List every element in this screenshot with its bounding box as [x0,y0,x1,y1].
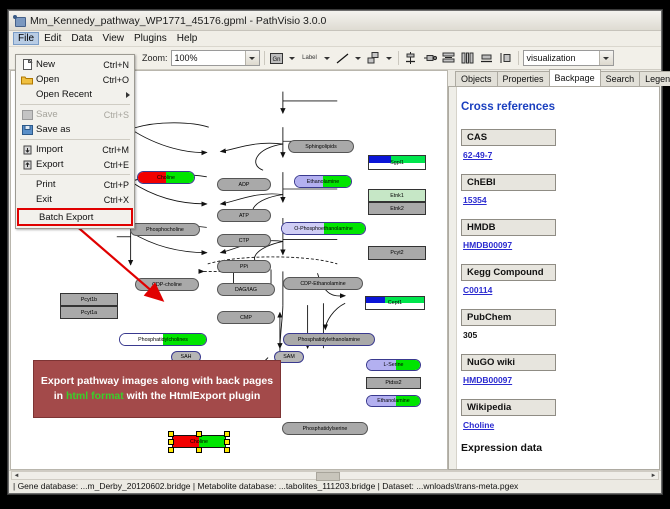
menu-item-open[interactable]: Open Ctrl+O [16,72,134,87]
file-menu-popup[interactable]: New Ctrl+N Open Ctrl+O Open Recent Save … [15,54,135,229]
pathway-node-phosphatidylcholines[interactable]: Phosphatidylcholines [119,333,207,346]
tab-backpage[interactable]: Backpage [549,69,601,86]
pathway-node-ppi[interactable]: PPi [217,260,271,273]
distribute-vertical-icon[interactable] [441,51,457,66]
new-file-icon [18,58,36,71]
xref-value[interactable]: HMDB00097 [463,375,659,385]
pathvisio-window-icon [13,14,26,27]
xref-db-label: ChEBI [461,174,556,191]
open-folder-icon [18,73,36,86]
node-label: Ptdss2 [385,380,401,386]
horizontal-scrollbar[interactable]: ◄ ► [11,471,659,480]
node-label: Choline [190,439,208,445]
node-label: ADP [239,182,250,188]
svg-text:Gn: Gn [273,57,281,63]
line-dropdown-icon[interactable] [354,51,363,65]
tab-legend[interactable]: Legend [639,71,670,86]
menu-data[interactable]: Data [66,32,97,45]
pathway-node-ptdss2[interactable]: Ptdss2 [366,377,421,389]
pathway-node-pcyt1a[interactable]: Pcyt1a [60,306,118,319]
node-label: ATP [239,213,249,219]
menu-item-label: Open Recent [36,89,134,100]
xref-chebi: ChEBI [461,172,659,191]
menu-item-export[interactable]: Export Ctrl+E [16,157,134,172]
scroll-left-arrow-icon[interactable]: ◄ [12,472,21,479]
xref-value[interactable]: Choline [463,420,659,430]
align-center-icon[interactable] [403,51,419,66]
stack-icon[interactable] [479,51,495,66]
visualization-combo[interactable]: visualization [523,50,614,66]
label-tool[interactable]: Label [300,51,320,66]
menu-item-label: Save [36,109,104,120]
menu-item-label: Export [36,159,104,170]
node-label: Phosphatidylcholines [138,337,188,343]
line-icon[interactable] [335,51,351,66]
visualization-value: visualization [527,53,599,63]
tab-search[interactable]: Search [600,71,641,86]
shape-dropdown-icon[interactable] [385,51,394,65]
menu-item-label: Open [36,74,103,85]
xref-db-label: PubChem [461,309,556,326]
xref-value[interactable]: 62-49-7 [463,150,659,160]
node-label: Pcyt1a [81,310,97,316]
node-label: PPi [240,264,248,270]
xref-value[interactable]: C00114 [463,285,659,295]
menu-item-shortcut: Ctrl+X [104,195,134,205]
xref-link[interactable]: Choline [463,420,494,430]
node-label: Etnk1 [390,193,404,199]
node-label: Etnk2 [390,206,404,212]
side-panel-tabs: Objects Properties Backpage Search Legen… [448,70,660,86]
xref-nugo: NuGO wiki [461,352,659,371]
distribute-horizontal-icon[interactable] [460,51,476,66]
expression-data-heading: Expression data [461,442,659,454]
side-panel: Objects Properties Backpage Search Legen… [448,70,660,470]
menu-item-save: Save Ctrl+S [16,107,134,122]
node-label: Ethanolamine [307,179,339,185]
zoom-label: Zoom: [142,53,168,63]
xref-db-label: Kegg Compound [461,264,556,281]
menu-view[interactable]: View [97,32,129,45]
pathway-node-phosphocholine[interactable]: Phosphocholine [130,223,200,236]
xref-hmdb: HMDB [461,217,659,236]
menu-separator [20,104,130,105]
xref-db-label: Wikipedia [461,399,556,416]
import-icon [18,143,36,156]
node-label: CMP [240,315,252,321]
node-label: Sphingolipids [305,144,337,150]
gene-product-dropdown-icon[interactable] [288,51,297,65]
menu-plugins[interactable]: Plugins [129,32,172,45]
node-label: Pcyt2 [390,250,403,256]
menu-item-shortcut: Ctrl+N [103,60,134,70]
pathway-node-phosphatidylserine[interactable]: Phosphatidylserine [282,422,368,435]
node-label: Cept1 [388,300,402,306]
node-label: L-Serine [383,362,403,368]
menu-item-batch-export[interactable]: Batch Export [17,208,133,226]
pathway-node-pcyt1b[interactable]: Pcyt1b [60,293,118,306]
node-label: Sgpl1 [390,160,404,166]
pathway-node-atp[interactable]: ATP [217,209,271,222]
submenu-arrow-icon [126,92,130,98]
xref-link[interactable]: 15354 [463,195,487,205]
menu-item-save-as[interactable]: Save as [16,122,134,137]
xref-wikipedia: Wikipedia [461,397,659,416]
backpage-content[interactable]: Cross references CAS 62-49-7 ChEBI 15354… [448,86,660,470]
menu-item-label: Exit [36,194,104,205]
xref-link[interactable]: HMDB00097 [463,240,512,250]
tab-objects[interactable]: Objects [455,71,498,86]
status-text: | Gene database: ...m_Derby_20120602.bri… [13,481,518,491]
pathway-node-phosphatidylethanolamine[interactable]: Phosphatidylethanolamine [283,333,375,346]
node-label: SAM [283,354,294,360]
node-label: Phosphocholine [146,227,184,233]
title-bar: Mm_Kennedy_pathway_WP1771_45176.gpml - P… [9,11,661,31]
menu-help[interactable]: Help [172,32,203,45]
xref-db-label: HMDB [461,219,556,236]
zoom-combo[interactable]: 100% [171,50,260,66]
pathway-node-etnk2[interactable]: Etnk2 [368,202,426,215]
menu-item-shortcut: Ctrl+S [104,110,134,120]
menu-item-label: Import [36,144,102,155]
xref-link[interactable]: C00114 [463,285,492,295]
callout-text: Export pathway images along with back pa… [40,374,274,404]
cross-references-heading: Cross references [461,101,659,113]
node-label: Ethanolamine [377,398,409,404]
node-label: Phosphatidylethanolamine [298,337,360,343]
save-as-icon [18,123,36,136]
pathway-node-choline-top[interactable]: Choline [137,171,195,184]
scrollbar-thumb[interactable] [316,472,340,481]
gene-product-icon[interactable]: Gn [269,51,285,66]
node-label: Choline [157,175,175,181]
node-label: CDP-choline [152,282,182,288]
menu-item-label: Save as [36,124,129,135]
pathway-node-etnk1[interactable]: Etnk1 [368,189,426,202]
chevron-down-icon[interactable] [599,51,613,65]
xref-value[interactable]: 15354 [463,195,659,205]
export-icon [18,158,36,171]
menu-file[interactable]: File [13,32,39,45]
menu-item-shortcut: Ctrl+O [103,75,134,85]
backpage-scrollbar[interactable] [449,87,457,469]
menu-item-exit[interactable]: Exit Ctrl+X [16,192,134,207]
xref-cas: CAS [461,127,659,146]
node-label: Pcyt1b [81,297,97,303]
menu-separator [20,174,130,175]
pathway-node-cept1[interactable]: Cept1 [365,296,425,310]
menu-item-shortcut: Ctrl+P [104,180,134,190]
pathway-node-o-phosphoethanolamine[interactable]: O-Phosphoethanolamine [281,222,366,235]
xref-value: 305 [463,330,659,340]
pathway-node-cdp-ethanolamine[interactable]: CDP-Ethanolamine [283,277,363,290]
pathway-node-l-serine[interactable]: L-Serine [366,359,421,371]
save-disk-icon [18,108,36,121]
chevron-down-icon[interactable] [245,51,259,65]
node-label: O-Phosphoethanolamine [294,226,353,232]
menu-item-label: Batch Export [39,212,131,223]
xref-value[interactable]: HMDB00097 [463,240,659,250]
pathvisio-window: Mm_Kennedy_pathway_WP1771_45176.gpml - P… [8,10,662,494]
menu-item-label: New [36,59,103,70]
menu-item-shortcut: Ctrl+M [102,145,134,155]
status-bar: ◄ ► | Gene database: ...m_Derby_20120602… [9,470,661,493]
scroll-right-arrow-icon[interactable]: ► [649,472,658,479]
pathway-node-sgpl1[interactable]: Sgpl1 [368,155,426,170]
menu-item-print[interactable]: Print Ctrl+P [16,177,134,192]
align-middle-icon[interactable] [422,51,438,66]
pathway-node-sphingolipids[interactable]: Sphingolipids [288,140,354,153]
node-label: Phosphatidylserine [303,426,348,432]
pathway-node-dag[interactable]: DAG/IAG [217,283,275,296]
pathway-node-ethanolamine-right[interactable]: Ethanolamine [366,395,421,407]
pathway-node-cdp-choline[interactable]: CDP-choline [135,278,199,291]
size-icon[interactable] [498,51,514,66]
menu-separator [20,139,130,140]
screenshot-root: Mm_Kennedy_pathway_WP1771_45176.gpml - P… [0,0,670,509]
pathway-node-ctp[interactable]: CTP [217,234,271,247]
node-label: CDP-Ethanolamine [300,281,345,287]
menu-item-label: Print [36,179,104,190]
label-dropdown-icon[interactable] [323,51,332,65]
window-title: Mm_Kennedy_pathway_WP1771_45176.gpml - P… [30,15,326,27]
menu-item-open-recent[interactable]: Open Recent [16,87,134,102]
annotation-callout: Export pathway images along with back pa… [33,360,281,418]
node-label: DAG/IAG [235,287,257,293]
menu-edit[interactable]: Edit [39,32,66,45]
pathway-node-cmp[interactable]: CMP [217,311,275,324]
xref-db-label: NuGO wiki [461,354,556,371]
xref-kegg: Kegg Compound [461,262,659,281]
shape-icon[interactable] [366,51,382,66]
menu-bar: File Edit Data View Plugins Help [9,31,661,47]
xref-db-label: CAS [461,129,556,146]
xref-link[interactable]: 62-49-7 [463,150,492,160]
xref-link[interactable]: HMDB00097 [463,375,512,385]
pathway-node-ethanolamine-top[interactable]: Ethanolamine [294,175,352,188]
node-label: CTP [239,238,250,244]
zoom-value: 100% [175,53,245,63]
pathway-node-adp[interactable]: ADP [217,178,271,191]
menu-item-new[interactable]: New Ctrl+N [16,57,134,72]
tab-properties[interactable]: Properties [497,71,550,86]
menu-item-shortcut: Ctrl+E [104,160,134,170]
pathway-node-pcyt2[interactable]: Pcyt2 [368,246,426,260]
menu-item-import[interactable]: Import Ctrl+M [16,142,134,157]
xref-pubchem: PubChem [461,307,659,326]
